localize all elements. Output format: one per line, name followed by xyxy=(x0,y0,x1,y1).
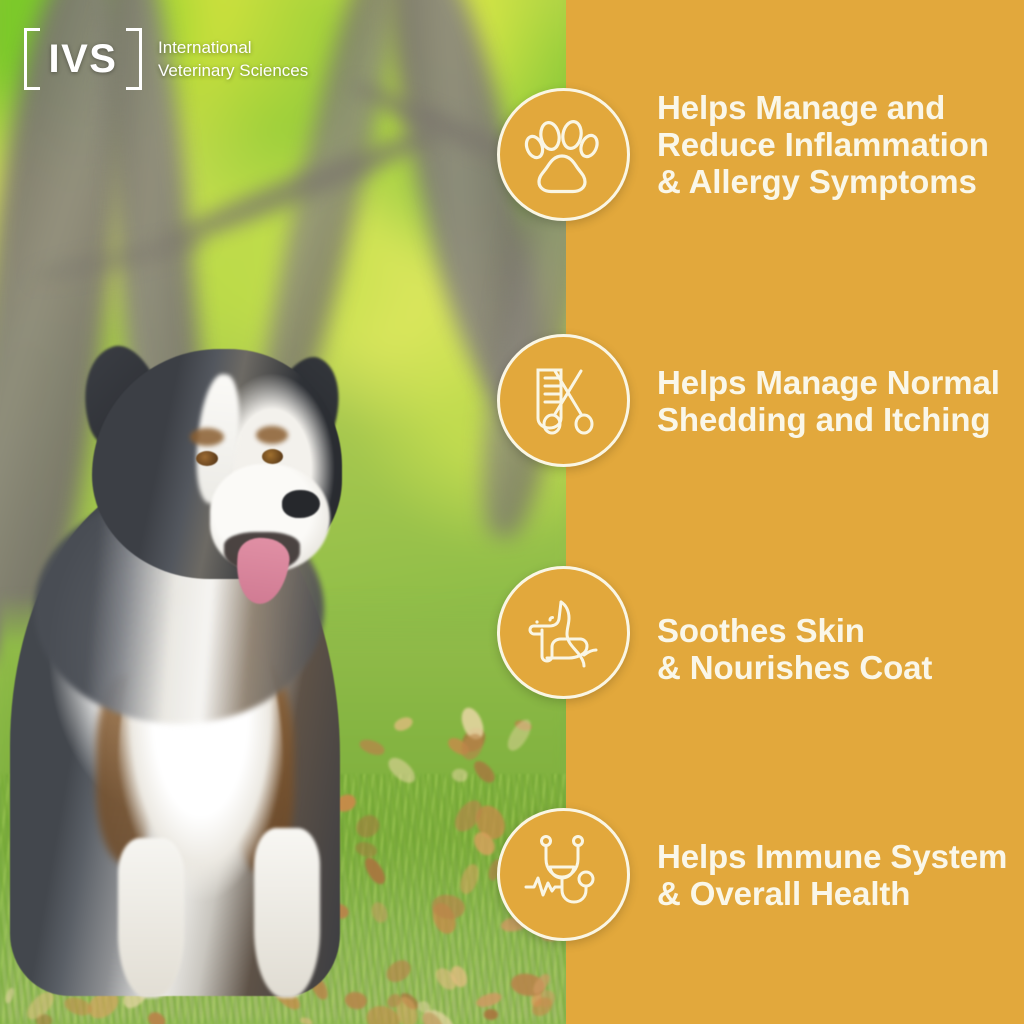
paw-print-icon xyxy=(497,88,630,221)
marketing-banner: IVS International Veterinary Sciences He… xyxy=(0,0,1024,1024)
benefit-row-shedding: Helps Manage Normal Shedding and Itching xyxy=(0,308,1024,546)
comb-and-scissors-icon xyxy=(497,334,630,467)
benefit-text: Helps Manage Normal Shedding and Itching xyxy=(657,364,1000,438)
stethoscope-heartbeat-icon xyxy=(497,808,630,941)
benefit-row-inflammation: Helps Manage and Reduce Inflammation & A… xyxy=(0,0,1024,308)
benefit-text: Helps Manage and Reduce Inflammation & A… xyxy=(657,89,989,200)
benefit-row-skin-coat: Soothes Skin & Nourishes Coat xyxy=(0,546,1024,784)
sitting-dog-icon xyxy=(497,566,630,699)
benefit-text: Soothes Skin & Nourishes Coat xyxy=(657,612,932,686)
benefit-text: Helps Immune System & Overall Health xyxy=(657,838,1007,912)
benefit-row-immune: Helps Immune System & Overall Health xyxy=(0,784,1024,1024)
